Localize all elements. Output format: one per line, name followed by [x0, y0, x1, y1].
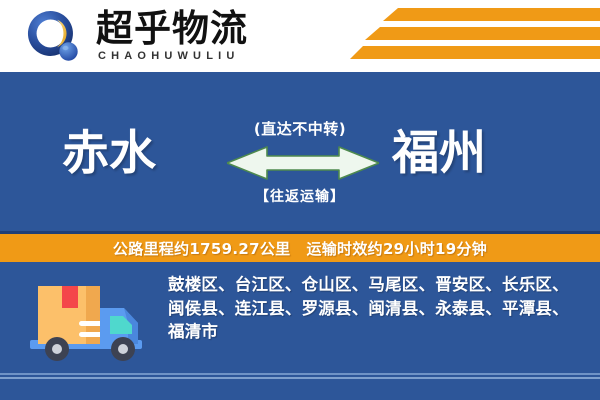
district-line-3: 福清市 — [168, 320, 588, 344]
round-trip-note: 【往返运输】 — [0, 186, 600, 206]
footer-rule-bottom — [0, 377, 600, 379]
logistics-route-banner: 超乎物流 CHAOHUWULIU (直达不中转) 赤水 福州 【往返运输】 公路… — [0, 0, 600, 400]
three-slanted-stripes-icon — [350, 8, 600, 66]
header: 超乎物流 CHAOHUWULIU — [0, 0, 600, 72]
distance-text: 公路里程约1759.27公里 — [113, 238, 291, 259]
delivery-truck-icon — [24, 274, 152, 366]
footer-rule-top — [0, 373, 600, 375]
district-line-1: 鼓楼区、台江区、仓山区、马尾区、晋安区、长乐区、 — [168, 273, 588, 297]
coverage-district-list: 鼓楼区、台江区、仓山区、马尾区、晋安区、长乐区、 闽侯县、连江县、罗源县、闽清县… — [168, 273, 588, 344]
duration-text: 运输时效约29小时19分钟 — [306, 238, 487, 259]
brand-name-cn: 超乎物流 — [96, 9, 248, 49]
origin-city: 赤水 — [62, 126, 156, 182]
district-line-2: 闽侯县、连江县、罗源县、闽清县、永泰县、平潭县、 — [168, 297, 588, 321]
info-bar: 公路里程约1759.27公里 运输时效约29小时19分钟 — [0, 234, 600, 262]
brand-name-en: CHAOHUWULIU — [98, 50, 240, 62]
double-headed-arrow-icon — [227, 143, 379, 181]
circle-q-logo-icon — [26, 9, 82, 65]
destination-city: 福州 — [392, 126, 486, 182]
